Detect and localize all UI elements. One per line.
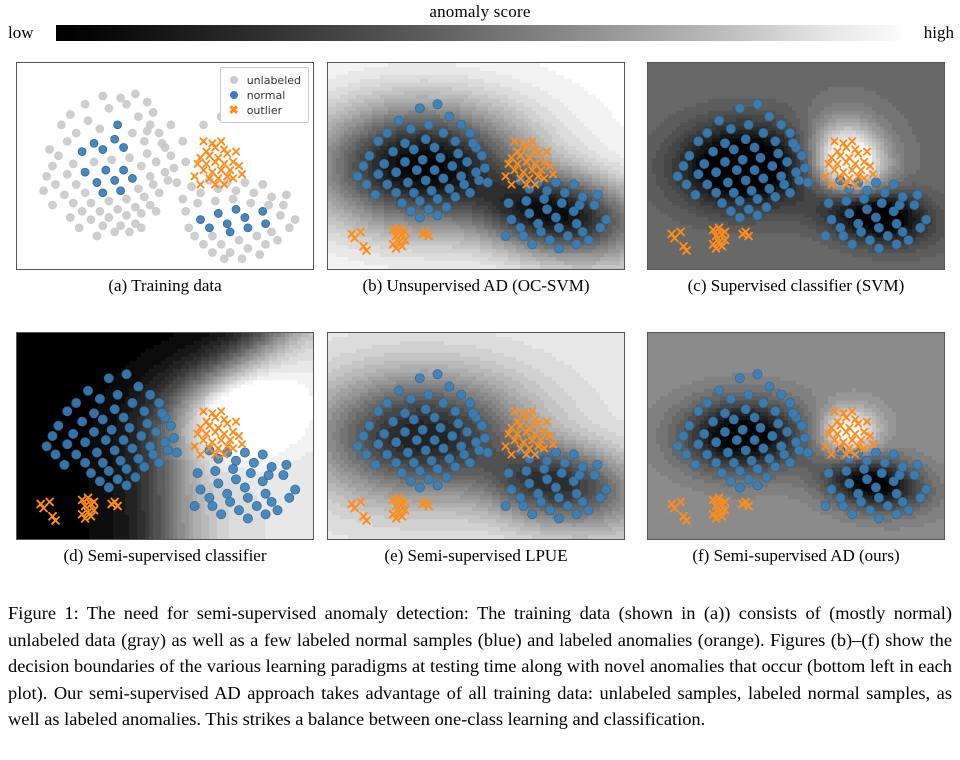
panel-f-plot: [648, 333, 944, 539]
plot-legend: unlabelednormal✖outlier: [220, 67, 309, 123]
colorbar-low-label: low: [8, 23, 34, 43]
legend-marker-circle-icon: [226, 87, 242, 103]
colorbar: low high: [0, 22, 960, 44]
legend-label: outlier: [247, 104, 282, 117]
panel-d: [16, 332, 314, 540]
panel-caption-f: (f) Semi-supervised AD (ours): [647, 546, 945, 566]
legend-marker-cross-icon: ✖: [226, 102, 242, 118]
figure-root: anomaly score low high unlabelednormal✖o…: [0, 0, 960, 760]
panel-caption-d: (d) Semi-supervised classifier: [16, 546, 314, 566]
panel-a: unlabelednormal✖outlier: [16, 62, 314, 270]
panel-caption-c: (c) Supervised classifier (SVM): [647, 276, 945, 296]
colorbar-gradient: [56, 25, 901, 41]
figure-caption: Figure 1: The need for semi-supervised a…: [8, 600, 952, 733]
panel-d-plot: [17, 333, 313, 539]
colorbar-title: anomaly score: [0, 2, 960, 22]
legend-item-outlier: ✖outlier: [226, 103, 301, 117]
legend-item-unlabeled: unlabeled: [226, 73, 301, 87]
panel-c: [647, 62, 945, 270]
panel-b-plot: [328, 63, 624, 269]
panel-e: [327, 332, 625, 540]
panel-caption-e: (e) Semi-supervised LPUE: [327, 546, 625, 566]
panel-b: [327, 62, 625, 270]
panel-caption-b: (b) Unsupervised AD (OC-SVM): [327, 276, 625, 296]
legend-marker-circle-icon: [226, 72, 242, 88]
panel-c-plot: [648, 63, 944, 269]
legend-item-normal: normal: [226, 88, 301, 102]
colorbar-high-label: high: [924, 23, 954, 43]
legend-label: unlabeled: [247, 74, 301, 87]
panel-caption-a: (a) Training data: [16, 276, 314, 296]
panel-f: [647, 332, 945, 540]
panel-e-plot: [328, 333, 624, 539]
legend-label: normal: [247, 89, 286, 102]
